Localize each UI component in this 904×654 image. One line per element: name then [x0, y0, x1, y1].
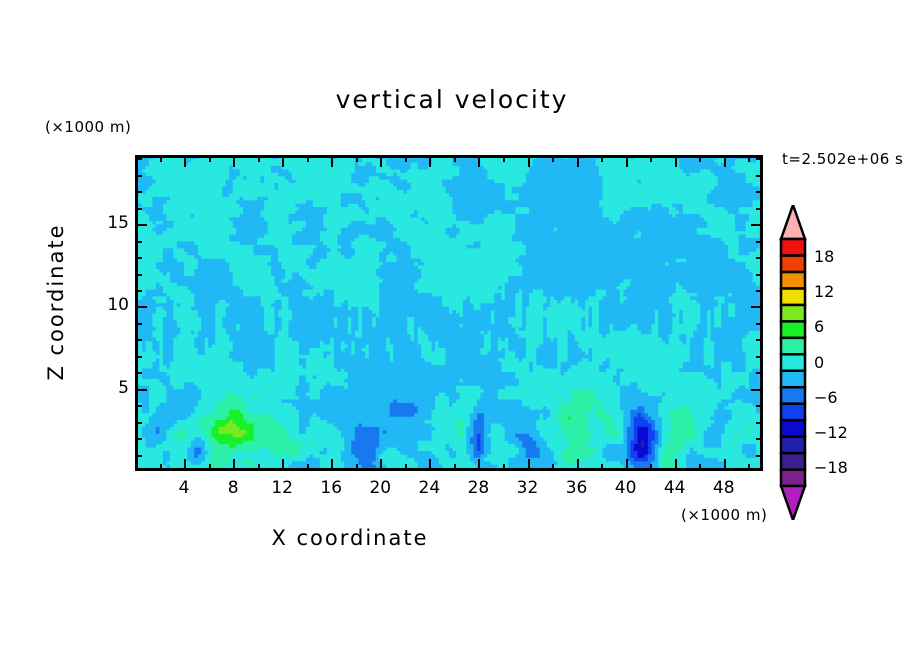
x-tick [675, 459, 677, 471]
plot-area [135, 155, 763, 471]
colorbar-tick-label-12: 12 [814, 282, 834, 301]
x-tick-label-48: 48 [704, 478, 744, 498]
colorbar-tick-label--18: −18 [814, 458, 848, 477]
y-tick-right [756, 438, 763, 440]
y-tick [135, 158, 142, 160]
y-tick-right [756, 257, 763, 259]
y-tick-right [756, 274, 763, 276]
time-annotation: t=2.502e+06 s [782, 150, 903, 168]
x-tick-top [503, 155, 505, 162]
x-tick [429, 459, 431, 471]
x-tick [528, 459, 530, 471]
y-tick [135, 290, 142, 292]
x-tick [748, 464, 750, 471]
y-tick-right [756, 175, 763, 177]
colorbar-tick-label-0: 0 [814, 353, 824, 372]
x-tick-top [699, 155, 701, 162]
y-tick [135, 306, 147, 308]
y-tick [135, 405, 142, 407]
x-tick-top [258, 155, 260, 162]
x-tick-top [405, 155, 407, 162]
x-tick-label-24: 24 [409, 478, 449, 498]
page-title: vertical velocity [0, 85, 904, 114]
x-tick-top [160, 155, 162, 162]
x-tick-top [650, 155, 652, 162]
y-tick [135, 274, 142, 276]
x-tick-label-40: 40 [606, 478, 646, 498]
x-tick-top [184, 155, 186, 167]
x-tick [380, 459, 382, 471]
y-tick [135, 389, 147, 391]
y-tick-right [756, 290, 763, 292]
x-tick [307, 464, 309, 471]
x-tick [577, 459, 579, 471]
x-tick-label-8: 8 [213, 478, 253, 498]
y-tick-right [756, 422, 763, 424]
x-tick-top [233, 155, 235, 167]
x-tick-label-32: 32 [508, 478, 548, 498]
title-text: vertical velocity [336, 85, 569, 114]
x-tick [282, 459, 284, 471]
colorbar-tick-label--6: −6 [814, 388, 838, 407]
x-tick [331, 459, 333, 471]
y-tick-label-5: 5 [95, 378, 129, 398]
y-tick [135, 175, 142, 177]
y-tick [135, 372, 142, 374]
y-tick-right [756, 158, 763, 160]
y-tick [135, 323, 142, 325]
y-tick-right [751, 389, 763, 391]
x-tick-top [748, 155, 750, 162]
y-tick-right [756, 372, 763, 374]
y-tick [135, 356, 142, 358]
x-tick-top [356, 155, 358, 162]
x-tick [626, 459, 628, 471]
x-tick-top [577, 155, 579, 167]
x-tick-label-16: 16 [311, 478, 351, 498]
colorbar-tick-label-18: 18 [814, 247, 834, 266]
y-tick-right [756, 323, 763, 325]
x-axis-title: X coordinate [0, 526, 700, 550]
x-tick [724, 459, 726, 471]
x-tick-top [528, 155, 530, 167]
x-tick [160, 464, 162, 471]
x-tick [233, 459, 235, 471]
x-tick-top [331, 155, 333, 167]
y-axis-unit-label: (×1000 m) [45, 118, 131, 136]
y-tick-label-15: 15 [95, 213, 129, 233]
y-tick [135, 191, 142, 193]
y-tick [135, 208, 142, 210]
x-tick-top [380, 155, 382, 167]
x-tick-top [601, 155, 603, 162]
x-tick-top [552, 155, 554, 162]
y-tick [135, 241, 142, 243]
x-tick-top [478, 155, 480, 167]
y-axis-title: Z coordinate [44, 222, 68, 382]
x-tick-label-28: 28 [458, 478, 498, 498]
x-tick [478, 459, 480, 471]
x-tick-top [626, 155, 628, 167]
x-tick [258, 464, 260, 471]
y-tick-right [756, 339, 763, 341]
contour-field [135, 155, 763, 471]
y-tick [135, 257, 142, 259]
x-tick-label-36: 36 [557, 478, 597, 498]
x-tick-label-4: 4 [164, 478, 204, 498]
y-tick-label-10: 10 [95, 295, 129, 315]
x-tick [405, 464, 407, 471]
y-tick [135, 422, 142, 424]
x-tick [454, 464, 456, 471]
x-tick-top [307, 155, 309, 162]
figure-canvas: vertical velocity (×1000 m) t=2.502e+06 … [0, 0, 904, 654]
y-tick [135, 224, 147, 226]
y-tick-right [756, 191, 763, 193]
x-tick-top [429, 155, 431, 167]
x-axis-unit-label: (×1000 m) [681, 506, 767, 524]
x-tick [503, 464, 505, 471]
x-tick [184, 459, 186, 471]
x-tick-top [454, 155, 456, 162]
y-tick-right [751, 306, 763, 308]
x-tick [699, 464, 701, 471]
x-tick-top [209, 155, 211, 162]
x-tick [209, 464, 211, 471]
y-tick [135, 455, 142, 457]
x-tick-top [724, 155, 726, 167]
colorbar-tick-label-6: 6 [814, 317, 824, 336]
y-tick [135, 339, 142, 341]
x-tick [552, 464, 554, 471]
x-tick-label-44: 44 [655, 478, 695, 498]
y-tick-right [756, 208, 763, 210]
x-tick [356, 464, 358, 471]
y-tick-right [751, 224, 763, 226]
x-tick-label-20: 20 [360, 478, 400, 498]
y-tick [135, 438, 142, 440]
colorbar-tick-label--12: −12 [814, 423, 848, 442]
x-tick [650, 464, 652, 471]
y-tick-right [756, 405, 763, 407]
y-tick-right [756, 455, 763, 457]
x-tick-label-12: 12 [262, 478, 302, 498]
x-tick-top [282, 155, 284, 167]
x-tick [601, 464, 603, 471]
x-tick-top [675, 155, 677, 167]
y-tick-right [756, 241, 763, 243]
colorbar [778, 205, 808, 520]
y-tick-right [756, 356, 763, 358]
